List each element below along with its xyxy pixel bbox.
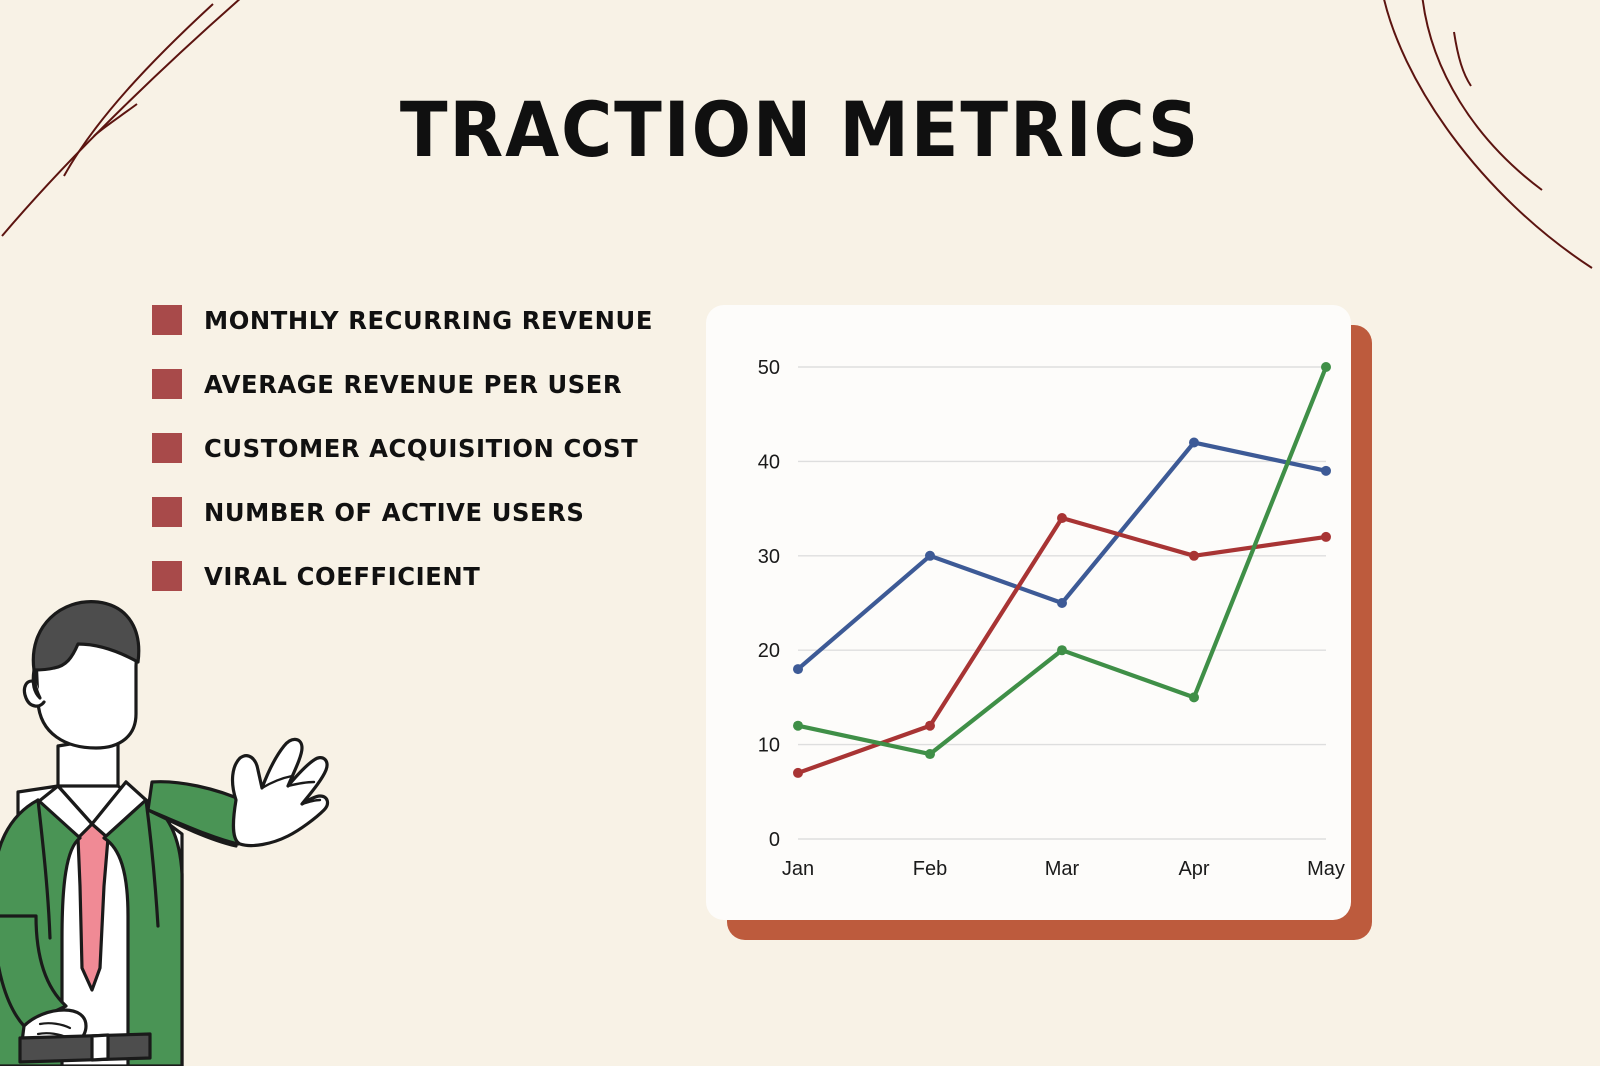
legend-item-average-revenue-per-user[interactable]: AVERAGE REVENUE PER USER [152, 352, 692, 416]
chart-data-point[interactable] [925, 749, 935, 759]
legend-item-label: AVERAGE REVENUE PER USER [204, 370, 622, 399]
chart-data-point[interactable] [1189, 551, 1199, 561]
y-axis-tick-label: 50 [758, 357, 780, 379]
legend-item-customer-acquisition-cost[interactable]: CUSTOMER ACQUISITION COST [152, 416, 692, 480]
legend: MONTHLY RECURRING REVENUE AVERAGE REVENU… [152, 288, 692, 608]
legend-swatch-icon [152, 561, 182, 591]
legend-item-viral-coefficient[interactable]: VIRAL COEFFICIENT [152, 544, 692, 608]
chart-y-axis-labels: 01020304050 [758, 357, 780, 851]
y-axis-tick-label: 40 [758, 451, 780, 473]
legend-swatch-icon [152, 369, 182, 399]
x-axis-tick-label: Mar [1045, 858, 1080, 880]
chart-data-point[interactable] [1321, 466, 1331, 476]
x-axis-tick-label: Feb [913, 858, 947, 880]
chart-data-point[interactable] [793, 768, 803, 778]
chart-card: 01020304050 JanFebMarAprMay [706, 305, 1351, 920]
legend-item-number-of-active-users[interactable]: NUMBER OF ACTIVE USERS [152, 480, 692, 544]
y-axis-tick-label: 10 [758, 735, 780, 757]
chart-data-point[interactable] [1189, 438, 1199, 448]
y-axis-tick-label: 30 [758, 546, 780, 568]
chart-data-point[interactable] [1057, 645, 1067, 655]
x-axis-tick-label: Apr [1178, 858, 1209, 880]
y-axis-tick-label: 20 [758, 640, 780, 662]
x-axis-tick-label: Jan [782, 858, 814, 880]
legend-swatch-icon [152, 433, 182, 463]
legend-swatch-icon [152, 497, 182, 527]
chart-plot-area [793, 362, 1331, 778]
legend-item-label: MONTHLY RECURRING REVENUE [204, 306, 653, 335]
legend-item-label: VIRAL COEFFICIENT [204, 562, 480, 591]
chart-data-point[interactable] [793, 664, 803, 674]
legend-swatch-icon [152, 305, 182, 335]
chart-data-point[interactable] [1057, 513, 1067, 523]
chart-data-point[interactable] [925, 551, 935, 561]
slide-canvas: TRACTION METRICS MONTHLY RECURRING REVEN… [0, 0, 1600, 1066]
presenter-illustration [0, 586, 330, 1066]
chart-data-point[interactable] [1057, 598, 1067, 608]
chart-series-line [798, 367, 1326, 754]
chart-data-point[interactable] [793, 721, 803, 731]
y-axis-tick-label: 0 [769, 829, 780, 851]
chart-data-point[interactable] [1189, 692, 1199, 702]
chart-x-axis-labels: JanFebMarAprMay [782, 858, 1345, 880]
legend-item-label: NUMBER OF ACTIVE USERS [204, 498, 584, 527]
page-title: TRACTION METRICS [64, 92, 1536, 168]
x-axis-tick-label: May [1307, 858, 1345, 880]
chart-data-point[interactable] [925, 721, 935, 731]
chart-data-point[interactable] [1321, 362, 1331, 372]
chart-data-point[interactable] [1321, 532, 1331, 542]
legend-item-monthly-recurring-revenue[interactable]: MONTHLY RECURRING REVENUE [152, 288, 692, 352]
line-chart[interactable]: 01020304050 JanFebMarAprMay [706, 305, 1351, 920]
legend-item-label: CUSTOMER ACQUISITION COST [204, 434, 638, 463]
